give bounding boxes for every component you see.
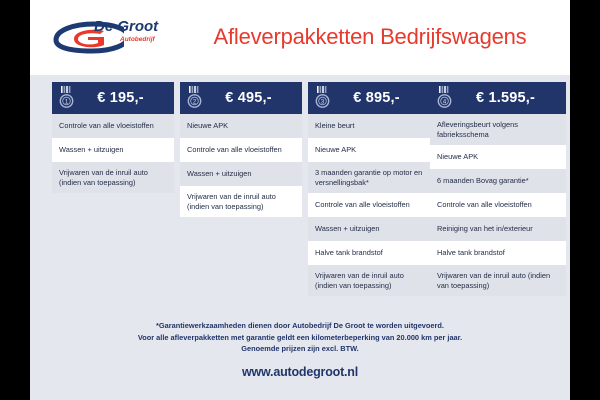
list-item: Nieuwe APK <box>308 138 430 162</box>
poster-canvas: De Groot Autobedrijf Afleverpakketten Be… <box>30 0 570 400</box>
de-groot-logo: De Groot Autobedrijf <box>48 14 168 60</box>
package-card-3: 3 € 895,- Kleine beurt Nieuwe APK 3 maan… <box>308 82 430 296</box>
package-price-4: € 1.595,- <box>455 90 560 106</box>
footnote-line-2: Voor alle afleverpakketten met garantie … <box>30 332 570 344</box>
list-item: Vrijwaren van de inruil auto (indien van… <box>180 186 302 217</box>
list-item: Vrijwaren van de inruil auto (indien van… <box>430 265 566 296</box>
list-item: Controle van alle vloeistoffen <box>52 114 174 138</box>
list-item: Nieuwe APK <box>180 114 302 138</box>
package-price-3: € 895,- <box>333 90 424 106</box>
package-header-2: 2 € 495,- <box>180 82 302 114</box>
package-header-4: 4 € 1.595,- <box>430 82 566 114</box>
list-item: Controle van alle vloeistoffen <box>430 193 566 217</box>
page-title: Afleverpakketten Bedrijfswagens <box>180 18 560 56</box>
list-item: Afleveringsbeurt volgens fabrieksschema <box>430 114 566 145</box>
list-item: Nieuwe APK <box>430 145 566 169</box>
list-item: Controle van alle vloeistoffen <box>308 193 430 217</box>
medal-icon: 1 <box>58 86 75 110</box>
package-columns: 1 € 195,- Controle van alle vloeistoffen… <box>30 75 570 315</box>
package-card-1: 1 € 195,- Controle van alle vloeistoffen… <box>52 82 174 193</box>
package-item-list-4: Afleveringsbeurt volgens fabrieksschema … <box>430 114 566 296</box>
list-item: Wassen + uitzuigen <box>52 138 174 162</box>
medal-icon: 4 <box>436 86 453 110</box>
package-card-4: 4 € 1.595,- Afleveringsbeurt volgens fab… <box>430 82 566 296</box>
list-item: Controle van alle vloeistoffen <box>180 138 302 162</box>
package-price-1: € 195,- <box>77 90 168 106</box>
logo-tagline: Autobedrijf <box>119 36 155 43</box>
website-link[interactable]: www.autodegroot.nl <box>30 365 570 379</box>
package-item-list-1: Controle van alle vloeistoffen Wassen + … <box>52 114 174 193</box>
poster-header: De Groot Autobedrijf Afleverpakketten Be… <box>30 0 570 75</box>
list-item: 6 maanden Bovag garantie* <box>430 169 566 193</box>
list-item: Vrijwaren van de inruil auto (indien van… <box>52 162 174 193</box>
package-price-2: € 495,- <box>205 90 296 106</box>
package-header-1: 1 € 195,- <box>52 82 174 114</box>
list-item: Wassen + uitzuigen <box>180 162 302 186</box>
package-header-3: 3 € 895,- <box>308 82 430 114</box>
package-item-list-3: Kleine beurt Nieuwe APK 3 maanden garant… <box>308 114 430 296</box>
footnote-line-1: *Garantiewerkzaamheden dienen door Autob… <box>30 320 570 332</box>
list-item: Kleine beurt <box>308 114 430 138</box>
list-item: Vrijwaren van de inruil auto (indien van… <box>308 265 430 296</box>
medal-icon: 3 <box>314 86 331 110</box>
package-card-2: 2 € 495,- Nieuwe APK Controle van alle v… <box>180 82 302 217</box>
poster-footer: *Garantiewerkzaamheden dienen door Autob… <box>30 320 570 379</box>
list-item: 3 maanden garantie op motor en versnelli… <box>308 162 430 193</box>
list-item: Wassen + uitzuigen <box>308 217 430 241</box>
package-item-list-2: Nieuwe APK Controle van alle vloeistoffe… <box>180 114 302 217</box>
list-item: Halve tank brandstof <box>430 241 566 265</box>
list-item: Halve tank brandstof <box>308 241 430 265</box>
medal-icon: 2 <box>186 86 203 110</box>
footnote-line-3: Genoemde prijzen zijn excl. BTW. <box>30 343 570 355</box>
list-item: Reiniging van het in/exterieur <box>430 217 566 241</box>
logo-wordmark: De Groot <box>94 18 159 35</box>
